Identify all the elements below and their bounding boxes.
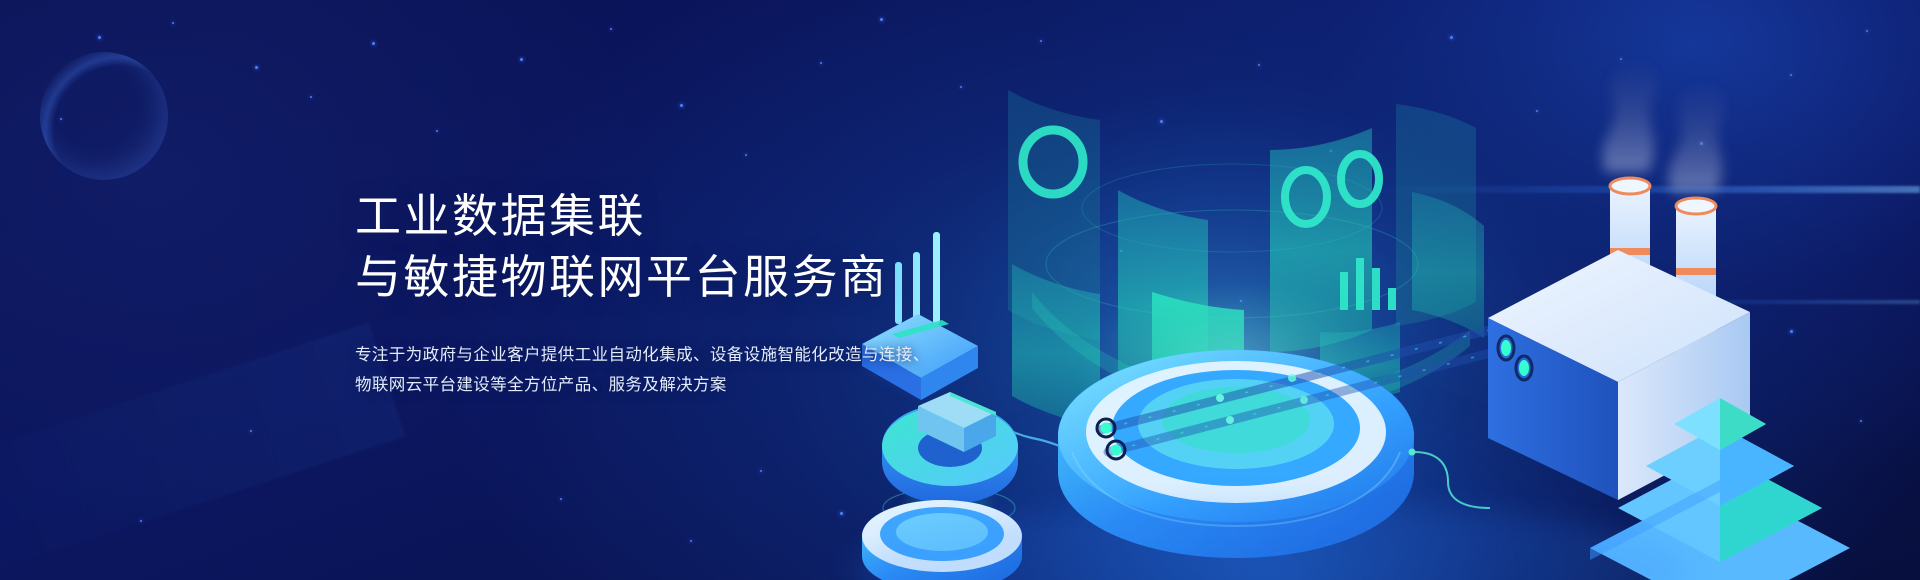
- crescent-moon-icon: [40, 52, 168, 180]
- page-title: 工业数据集联 与敏捷物联网平台服务商: [355, 186, 995, 309]
- hero-subtitle: 专注于为政府与企业客户提供工业自动化集成、设备设施智能化改造与连接、 物联网云平…: [355, 340, 995, 401]
- light-haze-left: [0, 323, 406, 580]
- hero-copy: 工业数据集联 与敏捷物联网平台服务商 专注于为政府与企业客户提供工业自动化集成、…: [355, 155, 995, 417]
- headline-line-2: 与敏捷物联网平台服务商: [355, 247, 995, 309]
- headline-line-1: 工业数据集联: [355, 190, 646, 242]
- subtitle-line-1: 专注于为政府与企业客户提供工业自动化集成、设备设施智能化改造与连接、: [355, 346, 930, 364]
- hero-banner: 工业数据集联 与敏捷物联网平台服务商 专注于为政府与企业客户提供工业自动化集成、…: [0, 0, 1920, 580]
- subtitle-line-2: 物联网云平台建设等全方位产品、服务及解决方案: [355, 376, 727, 394]
- smoke-plumes: [1602, 58, 1724, 192]
